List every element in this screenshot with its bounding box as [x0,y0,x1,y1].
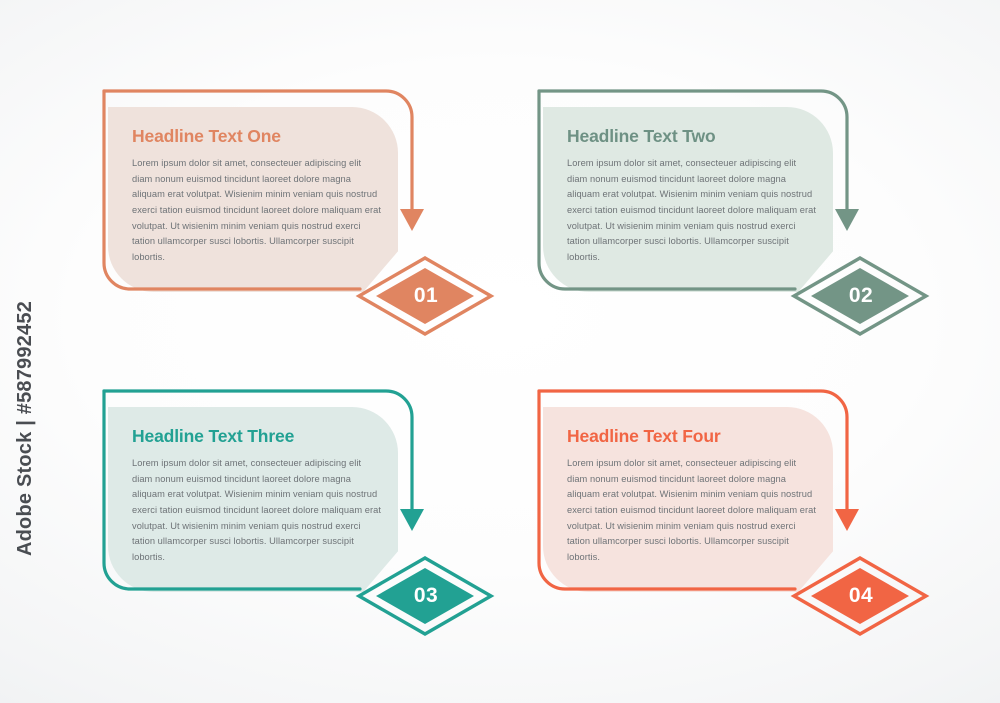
panel-number-badge[interactable]: 03 [355,555,495,637]
panel-body-text: Lorem ipsum dolor sit amet, consecteuer … [132,456,382,565]
panel-number-badge[interactable]: 01 [355,255,495,337]
infographic-panel-01: Headline Text One Lorem ipsum dolor sit … [90,85,520,385]
panel-number-text: 01 [355,255,495,337]
infographic-panel-03: Headline Text Three Lorem ipsum dolor si… [90,385,520,685]
panel-headline: Headline Text Three [132,427,382,446]
panel-number-text: 02 [790,255,930,337]
panel-number-text: 03 [355,555,495,637]
panel-number-text: 04 [790,555,930,637]
panel-body-text: Lorem ipsum dolor sit amet, consecteuer … [132,156,382,265]
infographic-panel-02: Headline Text Two Lorem ipsum dolor sit … [525,85,955,385]
panel-headline: Headline Text Two [567,127,817,146]
panel-number-badge[interactable]: 02 [790,255,930,337]
panel-headline: Headline Text One [132,127,382,146]
infographic-board: Headline Text One Lorem ipsum dolor sit … [0,0,1000,703]
panel-body-text: Lorem ipsum dolor sit amet, consecteuer … [567,156,817,265]
panel-body-text: Lorem ipsum dolor sit amet, consecteuer … [567,456,817,565]
panel-content: Headline Text Four Lorem ipsum dolor sit… [567,427,817,566]
panel-content: Headline Text Two Lorem ipsum dolor sit … [567,127,817,266]
panel-content: Headline Text Three Lorem ipsum dolor si… [132,427,382,566]
infographic-panel-04: Headline Text Four Lorem ipsum dolor sit… [525,385,955,685]
panel-content: Headline Text One Lorem ipsum dolor sit … [132,127,382,266]
panel-headline: Headline Text Four [567,427,817,446]
panel-number-badge[interactable]: 04 [790,555,930,637]
